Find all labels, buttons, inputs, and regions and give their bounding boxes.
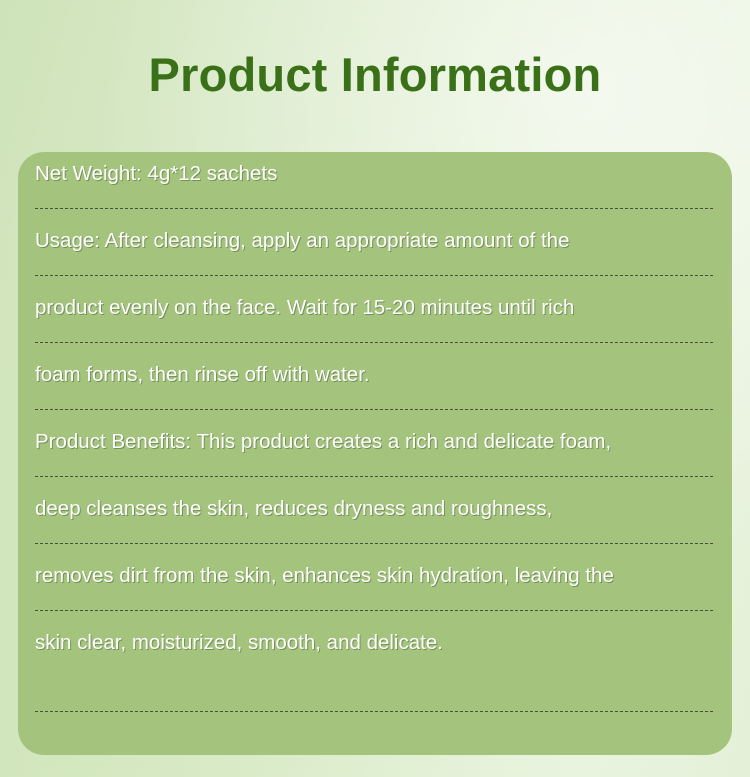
usage-line-2-text: product evenly on the face. Wait for 15-…	[35, 286, 574, 330]
row-divider	[35, 275, 713, 276]
list-item: Net Weight: 4g*12 sachets	[35, 152, 713, 219]
net-weight-text: Net Weight: 4g*12 sachets	[35, 152, 277, 196]
benefits-line-4-text: skin clear, moisturized, smooth, and del…	[35, 621, 443, 665]
row-divider	[35, 543, 713, 544]
benefits-line-3-text: removes dirt from the skin, enhances ski…	[35, 554, 614, 598]
usage-line-3-text: foam forms, then rinse off with water.	[35, 353, 370, 397]
row-divider	[35, 610, 713, 611]
product-information-page: Product Information Net Weight: 4g*12 sa…	[0, 0, 750, 777]
row-divider	[35, 711, 713, 712]
list-item: Product Benefits: This product creates a…	[35, 420, 713, 487]
list-item: deep cleanses the skin, reduces dryness …	[35, 487, 713, 554]
product-information-list: Net Weight: 4g*12 sachets Usage: After c…	[35, 152, 713, 688]
benefits-line-2-text: deep cleanses the skin, reduces dryness …	[35, 487, 552, 531]
row-divider	[35, 409, 713, 410]
product-information-card: Net Weight: 4g*12 sachets Usage: After c…	[18, 152, 732, 755]
list-item: removes dirt from the skin, enhances ski…	[35, 554, 713, 621]
usage-line-1-text: Usage: After cleansing, apply an appropr…	[35, 219, 569, 263]
list-item: Usage: After cleansing, apply an appropr…	[35, 219, 713, 286]
row-divider	[35, 476, 713, 477]
benefits-line-1-text: Product Benefits: This product creates a…	[35, 420, 611, 464]
row-divider	[35, 342, 713, 343]
list-item: product evenly on the face. Wait for 15-…	[35, 286, 713, 353]
list-item: foam forms, then rinse off with water.	[35, 353, 713, 420]
row-divider	[35, 208, 713, 209]
page-title: Product Information	[0, 46, 750, 104]
list-item: skin clear, moisturized, smooth, and del…	[35, 621, 713, 688]
